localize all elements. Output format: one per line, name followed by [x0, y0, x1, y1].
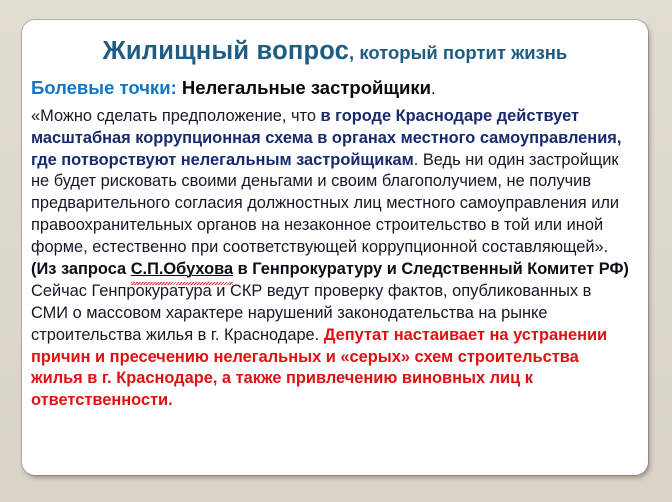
quote-paragraph: «Можно сделать предположение, что в горо…	[31, 106, 631, 259]
page-title-subtitle: , который портит жизнь	[349, 42, 567, 63]
pain-points-line: Болевые точки: Нелегальные застройщики.	[31, 78, 648, 99]
page-title: Жилищный вопрос, который портит жизнь	[22, 20, 648, 66]
quote-opening-text: «Можно сделать предположение, что	[31, 107, 320, 125]
pain-points-label: Болевые точки:	[31, 77, 177, 98]
slide-card: Жилищный вопрос, который портит жизнь Бо…	[22, 20, 648, 475]
pain-points-period: .	[431, 79, 436, 98]
page-title-main: Жилищный вопрос	[103, 37, 349, 65]
source-attribution: (Из запроса С.П.Обухова в Генпрокуратуру…	[31, 259, 631, 281]
source-name-misspelled: С.П.Обухова	[131, 259, 233, 281]
source-prefix: (Из запроса	[31, 260, 131, 278]
status-paragraph: Сейчас Генпрокуратура и СКР ведут провер…	[31, 281, 631, 412]
pain-points-value: Нелегальные застройщики	[182, 77, 431, 98]
slide-body: «Можно сделать предположение, что в горо…	[31, 106, 631, 412]
slide-background: Жилищный вопрос, который портит жизнь Бо…	[0, 0, 672, 502]
source-suffix: в Генпрокуратуру и Следственный Комитет …	[233, 260, 629, 278]
